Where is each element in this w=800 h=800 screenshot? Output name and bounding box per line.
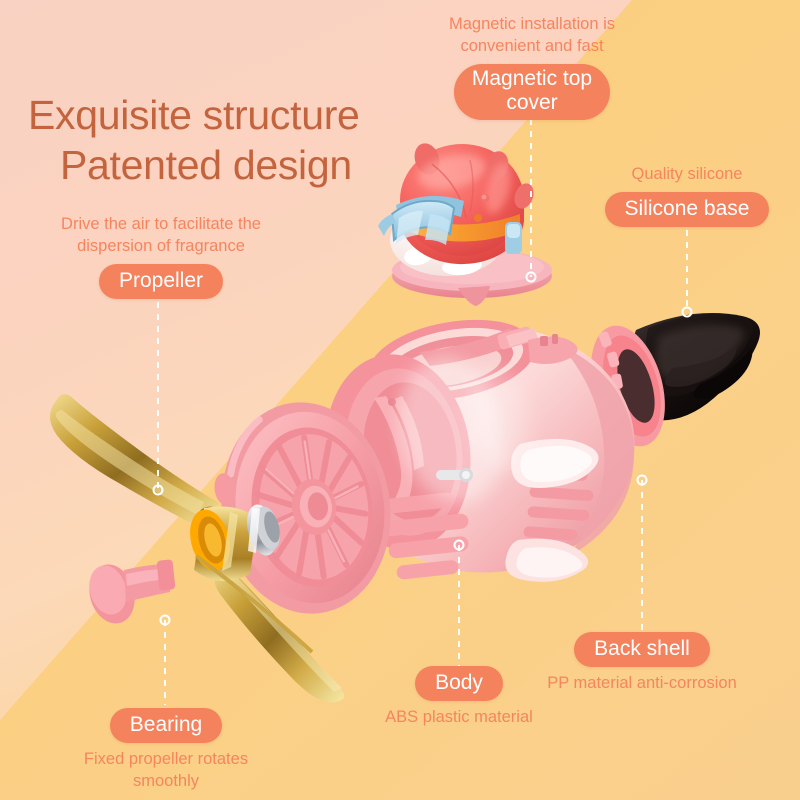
callout-silicone-base: Quality silicone Silicone base: [592, 164, 782, 227]
pink-pin-knob: [83, 559, 176, 629]
callout-body: Body ABS plastic material: [366, 666, 552, 729]
callout-label-silicone-base[interactable]: Silicone base: [605, 192, 770, 227]
callout-label-back-shell[interactable]: Back shell: [574, 632, 710, 667]
callout-caption-back-shell: PP material anti-corrosion: [545, 673, 739, 695]
callout-propeller: Drive the air to facilitate the dispersi…: [36, 214, 286, 299]
body-side-fin-lower: [505, 539, 588, 582]
callout-label-propeller[interactable]: Propeller: [99, 264, 223, 299]
callout-caption-bearing: Fixed propeller rotates smoothly: [48, 749, 284, 793]
callout-label-magnetic-top-cover[interactable]: Magnetic top cover: [454, 64, 610, 121]
headline-line-1: Exquisite structure: [28, 92, 360, 138]
callout-label-bearing[interactable]: Bearing: [110, 708, 222, 743]
callout-caption-body: ABS plastic material: [366, 707, 552, 729]
product-infographic-poster: Exquisite structure Patented design Magn…: [0, 0, 800, 800]
magnetic-top-cover-cat-figure: [378, 140, 552, 306]
callout-back-shell: Back shell PP material anti-corrosion: [545, 632, 739, 695]
callout-caption-propeller: Drive the air to facilitate the dispersi…: [36, 214, 286, 258]
callout-bearing: Bearing Fixed propeller rotates smoothly: [48, 708, 284, 793]
callout-label-body[interactable]: Body: [415, 666, 503, 701]
page-title: Exquisite structure Patented design: [28, 40, 360, 240]
callout-magnetic-top-cover: Magnetic installation is convenient and …: [432, 14, 632, 120]
callout-caption-silicone-base: Quality silicone: [592, 164, 782, 186]
headline-line-2: Patented design: [60, 140, 360, 190]
callout-caption-magnetic-top-cover: Magnetic installation is convenient and …: [432, 14, 632, 58]
